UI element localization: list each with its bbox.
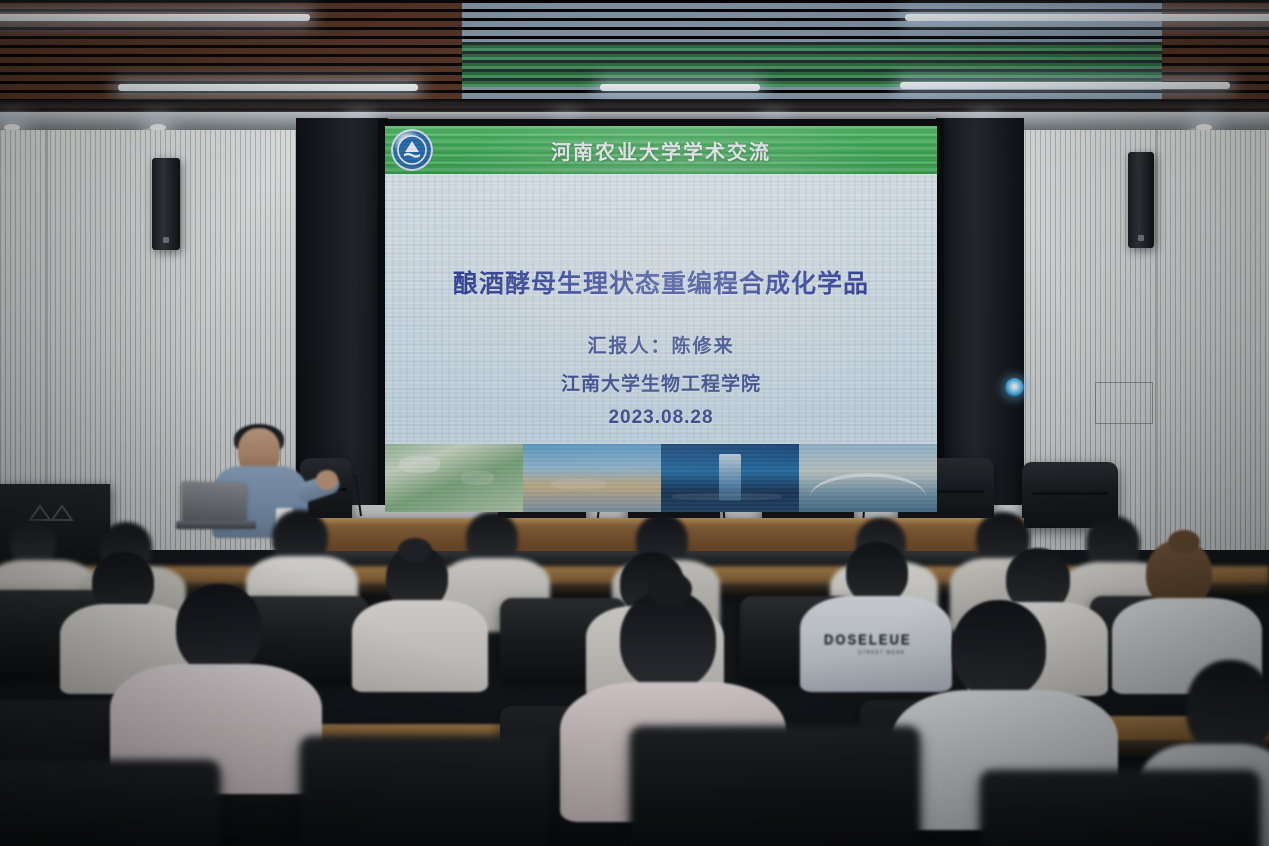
lecture-hall-scene: 河南农业大学学术交流 酿酒酵母生理状态重编程合成化学品 汇报人：陈修来 江南大学… [0, 0, 1269, 846]
attendee-head [1186, 660, 1269, 756]
university-emblem-icon [391, 129, 433, 171]
slide-affiliation-line: 江南大学生物工程学院 [385, 369, 937, 396]
shirt-print-text: DOSELEUE [824, 631, 912, 648]
projection-screen: 河南农业大学学术交流 酿酒酵母生理状态重编程合成化学品 汇报人：陈修来 江南大学… [385, 126, 937, 512]
slide-header-bar: 河南农业大学学术交流 [385, 126, 937, 174]
attendee-hair-bun [648, 572, 692, 606]
night-tower-photo [661, 444, 799, 512]
foreground-chair [980, 770, 1260, 846]
slide-header-title: 河南农业大学学术交流 [385, 136, 937, 165]
waterfront-photo [523, 444, 661, 512]
slide-main-title: 酿酒酵母生理状态重编程合成化学品 [385, 264, 937, 300]
slide-date-line: 2023.08.28 [385, 407, 937, 429]
slide-presenter-line: 汇报人：陈修来 [385, 331, 937, 358]
campus-aerial-photo [385, 444, 523, 512]
attendee-head [176, 584, 262, 674]
foreground-chair [300, 736, 550, 846]
shirt-print-subtext: STREET WEAR [858, 650, 905, 656]
screen-texture [385, 172, 937, 442]
slide-photo-strip [385, 444, 937, 512]
stone-bridge-photo [799, 444, 937, 512]
foreground-chair [630, 726, 920, 846]
attendee-head [952, 600, 1046, 698]
foreground-chair [0, 760, 220, 846]
